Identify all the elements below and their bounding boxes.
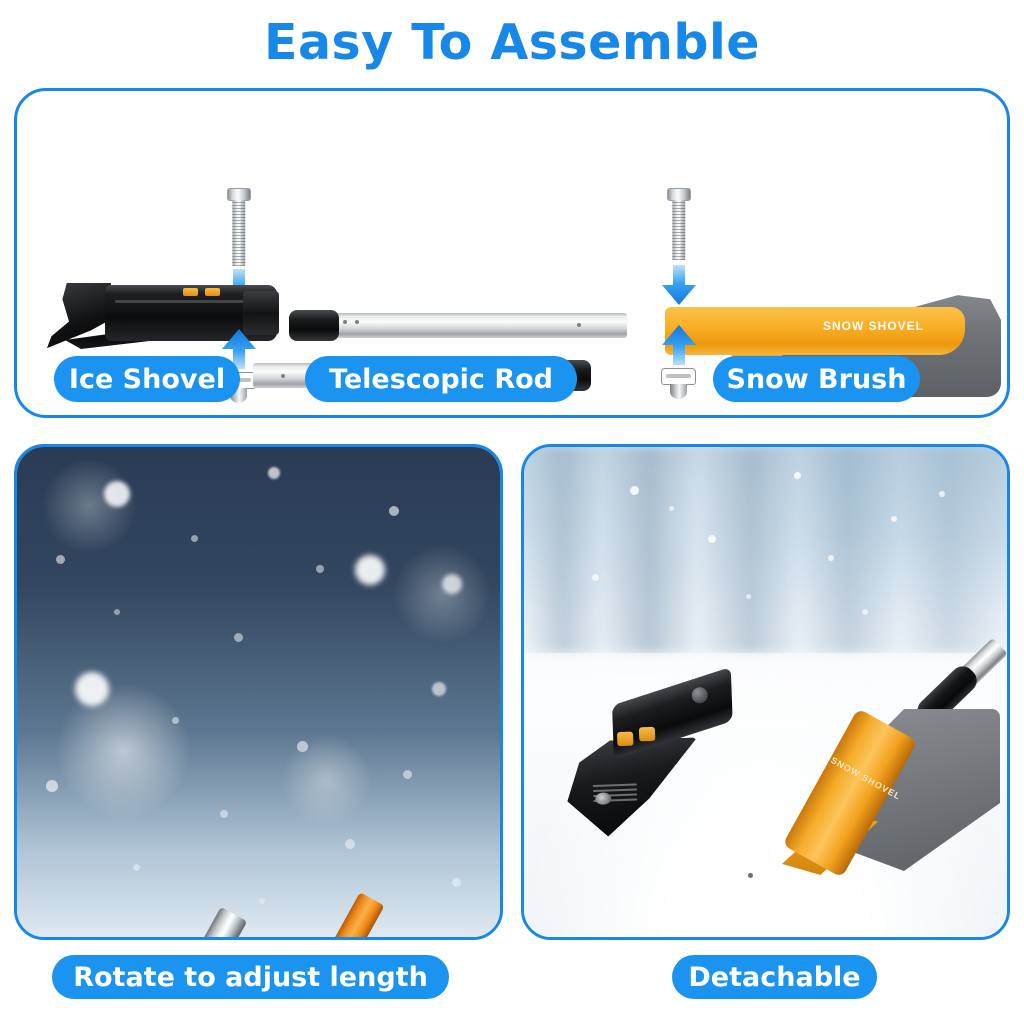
orange-button-icon [183,288,198,296]
orange-button-icon [639,727,655,742]
rod-hole [355,320,359,324]
rod-hole [748,873,753,878]
infographic-page: Easy To Assemble [0,0,1024,1024]
bolt-shaft [672,200,685,260]
rod-tube [325,313,627,338]
bolt-icon [667,188,691,260]
label-rotate-to-adjust-length: Rotate to adjust length [52,955,449,999]
snow-brush-blade-text: SNOW SHOVEL [823,319,924,333]
page-title: Easy To Assemble [0,14,1024,71]
snow-shovel-part: SNOW SHOVEL [782,709,998,899]
pole-orange-collar [313,892,384,940]
rotate-panel [14,444,503,940]
nut-stem [670,384,687,399]
nut-icon [661,368,696,398]
label-telescopic-rod: Telescopic Rod [305,356,577,402]
label-ice-shovel: Ice Shovel [54,356,240,402]
rod-collar [289,310,339,341]
label-detachable: Detachable [672,955,877,999]
rod-hole [343,320,347,324]
rod-hole [281,374,285,378]
ice-scraper-part [563,684,736,838]
bolt-shaft [232,200,245,266]
label-snow-brush: Snow Brush [713,356,920,402]
detachable-panel: SNOW SHOVEL [521,444,1010,940]
orange-button-icon [617,732,633,747]
rod-hole [577,323,581,327]
nut-cap [661,368,696,385]
pole-tube [14,907,247,940]
orange-button-icon [205,288,220,296]
bolt-icon [227,188,251,266]
upper-rod [289,313,627,338]
up-arrow-icon [658,323,700,365]
telescopic-pole-illustration [17,447,500,937]
